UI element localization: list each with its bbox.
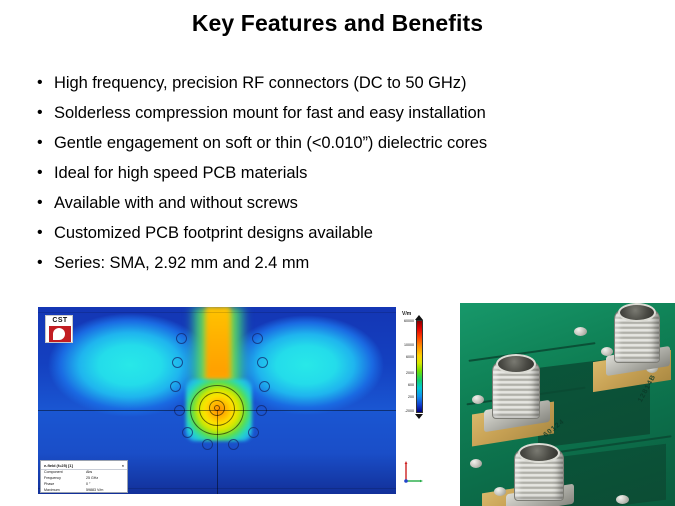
bullet-icon: • bbox=[34, 160, 54, 186]
colorbar-unit-label: V/m bbox=[402, 311, 411, 317]
info-row: Maximum 59883 V/m bbox=[41, 488, 127, 493]
via-hole bbox=[170, 381, 181, 392]
via-hole bbox=[259, 381, 270, 392]
via-hole bbox=[228, 439, 239, 450]
info-value: 59883 V/m bbox=[86, 488, 124, 493]
info-key: Phase bbox=[44, 482, 86, 487]
info-row: Phase 0 ° bbox=[41, 482, 127, 488]
via-hole bbox=[182, 427, 193, 438]
cst-simulation-figure: CST e-field (f=25) [1] × Component Abs F… bbox=[38, 307, 433, 494]
list-item: • Series: SMA, 2.92 mm and 2.4 mm bbox=[34, 250, 654, 280]
efield-info-panel-header: e-field (f=25) [1] × bbox=[41, 461, 127, 470]
colorbar-tick: -2000 bbox=[404, 409, 414, 413]
bullet-icon: • bbox=[34, 250, 54, 276]
cst-logo-label: CST bbox=[46, 316, 74, 326]
bullet-icon: • bbox=[34, 220, 54, 246]
pcb-via bbox=[616, 495, 629, 504]
colorbar-tick: 60000 bbox=[404, 319, 414, 323]
bullet-icon: • bbox=[34, 100, 54, 126]
sma-connector bbox=[504, 443, 576, 506]
efield-info-panel[interactable]: e-field (f=25) [1] × Component Abs Frequ… bbox=[40, 460, 128, 493]
pcb-connector-photo: 60124 12814B bbox=[460, 303, 675, 506]
list-item-label: Solderless compression mount for fast an… bbox=[54, 100, 486, 126]
info-value: 0 ° bbox=[86, 482, 124, 487]
colorbar-tick: 200 bbox=[404, 395, 414, 399]
via-hole bbox=[248, 427, 259, 438]
info-row: Frequency 25 GHz bbox=[41, 476, 127, 482]
bullet-icon: • bbox=[34, 70, 54, 96]
feature-bullet-list: • High frequency, precision RF connector… bbox=[34, 70, 654, 280]
colorbar-tick: 2000 bbox=[404, 371, 414, 375]
via-hole bbox=[172, 357, 183, 368]
colorbar-tick: 600 bbox=[404, 383, 414, 387]
colorbar-tick: 10000 bbox=[404, 343, 414, 347]
info-value: 25 GHz bbox=[86, 476, 124, 481]
list-item: • High frequency, precision RF connector… bbox=[34, 70, 654, 100]
board-edge-line bbox=[38, 312, 396, 313]
list-item: • Customized PCB footprint designs avail… bbox=[34, 220, 654, 250]
cst-logo: CST bbox=[45, 315, 73, 343]
symmetry-line-vertical bbox=[217, 410, 218, 494]
sma-bore bbox=[518, 443, 560, 463]
list-item-label: High frequency, precision RF connectors … bbox=[54, 70, 466, 96]
sma-bore bbox=[618, 303, 656, 322]
list-item-label: Ideal for high speed PCB materials bbox=[54, 160, 307, 186]
via-hole bbox=[202, 439, 213, 450]
slide-canvas: Key Features and Benefits • High frequen… bbox=[0, 0, 675, 506]
via-hole bbox=[257, 357, 268, 368]
efield-info-panel-title: e-field (f=25) [1] bbox=[44, 463, 73, 468]
list-item-label: Available with and without screws bbox=[54, 190, 298, 216]
colorbar-tick: 6000 bbox=[404, 355, 414, 359]
axis-triad-icon bbox=[402, 459, 424, 485]
cst-logo-glyph-icon bbox=[53, 328, 65, 340]
info-value: Abs bbox=[86, 470, 124, 475]
list-item-label: Gentle engagement on soft or thin (<0.01… bbox=[54, 130, 487, 156]
pcb-via bbox=[470, 459, 482, 468]
cst-logo-mark-icon bbox=[49, 326, 71, 342]
bullet-icon: • bbox=[34, 130, 54, 156]
sma-connector bbox=[606, 303, 672, 377]
info-key: Frequency bbox=[44, 476, 86, 481]
sma-connector bbox=[482, 353, 552, 431]
sma-bore bbox=[496, 354, 536, 374]
list-item-label: Customized PCB footprint designs availab… bbox=[54, 220, 373, 246]
list-item: • Gentle engagement on soft or thin (<0.… bbox=[34, 130, 654, 160]
pcb-via bbox=[574, 327, 587, 336]
via-hole bbox=[176, 333, 187, 344]
colorbar-min-arrow-icon bbox=[415, 414, 423, 419]
info-key: Component bbox=[44, 470, 86, 475]
list-item-label: Series: SMA, 2.92 mm and 2.4 mm bbox=[54, 250, 309, 276]
close-icon[interactable]: × bbox=[122, 463, 124, 468]
colorbar-gradient bbox=[416, 320, 423, 413]
bullet-icon: • bbox=[34, 190, 54, 216]
list-item: • Solderless compression mount for fast … bbox=[34, 100, 654, 130]
info-key: Maximum bbox=[44, 488, 86, 493]
page-title: Key Features and Benefits bbox=[0, 10, 675, 37]
efield-plot-canvas: CST e-field (f=25) [1] × Component Abs F… bbox=[38, 307, 396, 494]
list-item: • Ideal for high speed PCB materials bbox=[34, 160, 654, 190]
via-hole bbox=[252, 333, 263, 344]
info-row: Component Abs bbox=[41, 470, 127, 476]
list-item: • Available with and without screws bbox=[34, 190, 654, 220]
